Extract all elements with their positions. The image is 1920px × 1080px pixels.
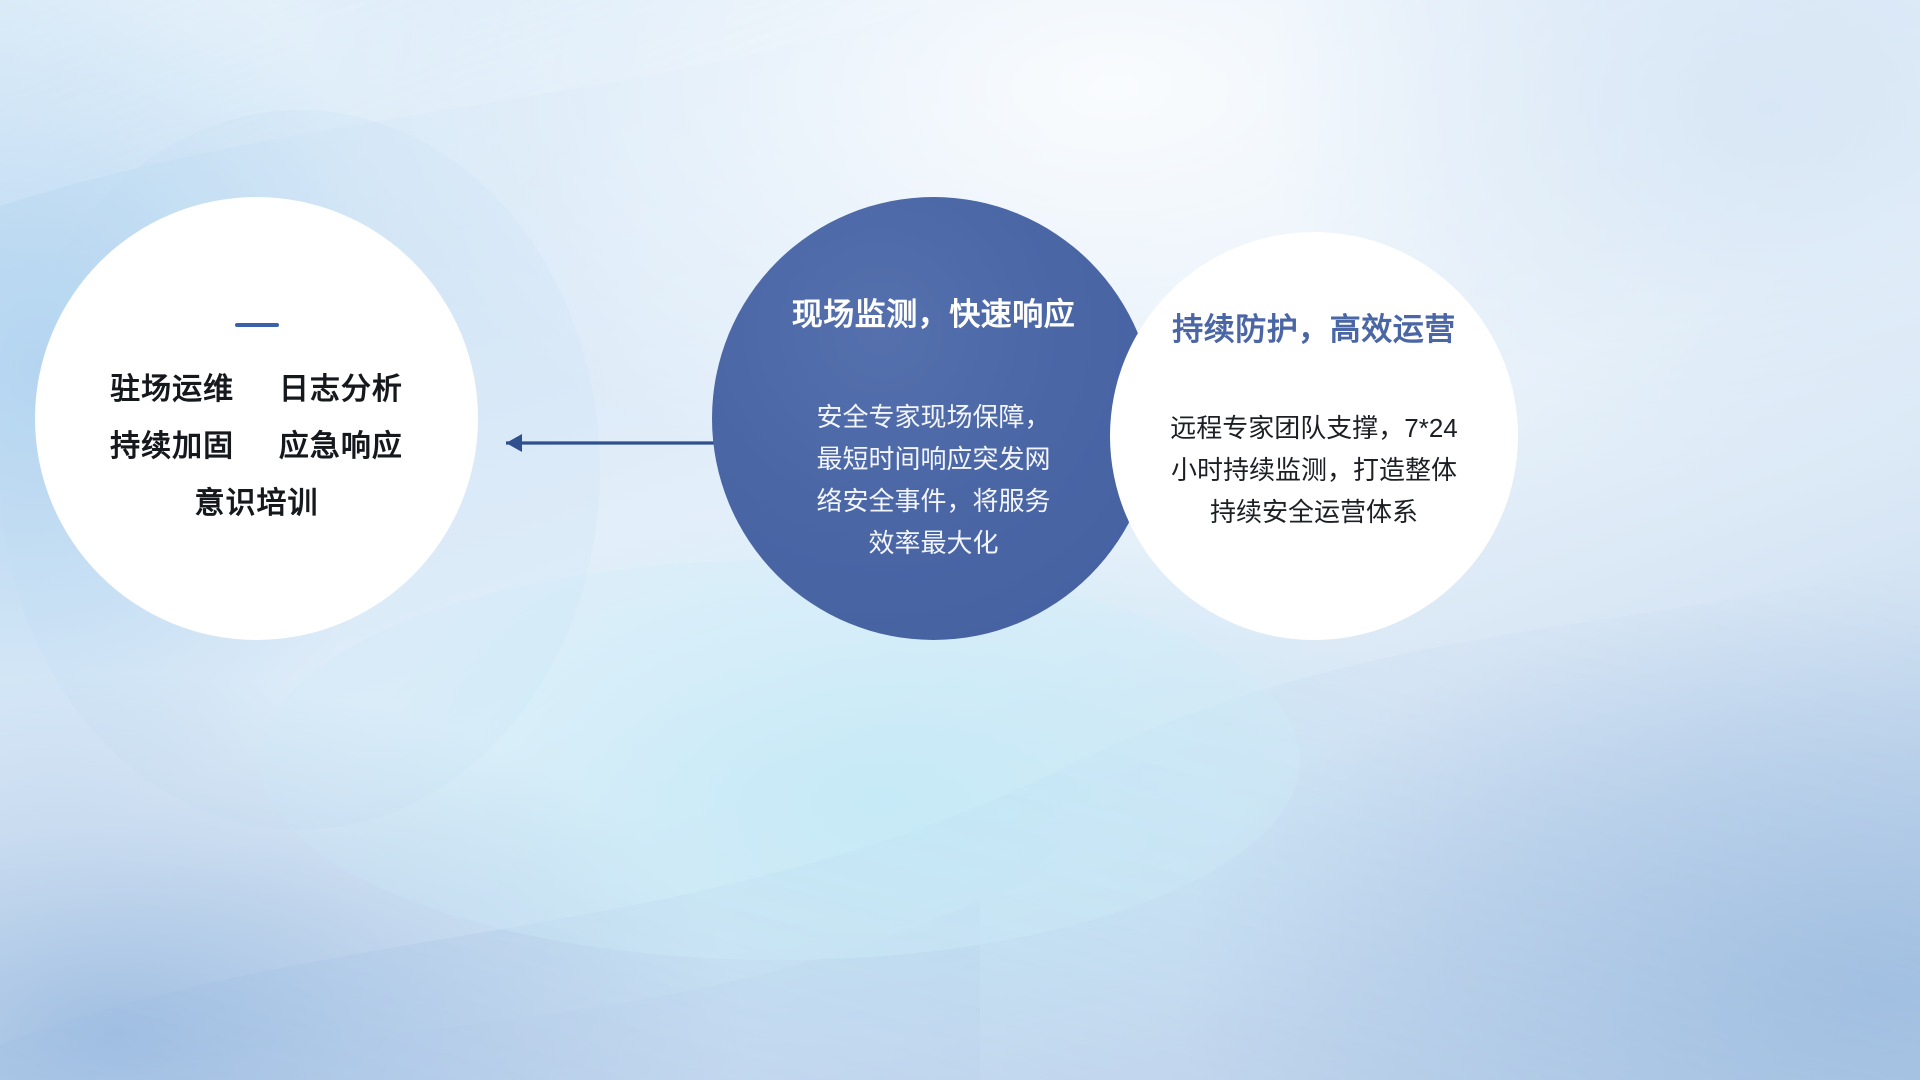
flow-arrow-icon	[488, 420, 718, 466]
body-line: 持续安全运营体系	[1138, 491, 1490, 533]
keyword-emergency-response[interactable]: 应急响应	[279, 430, 403, 463]
node-left-keywords[interactable]: 驻场运维 日志分析 持续加固 应急响应 意识培训	[35, 197, 478, 640]
body-line: 效率最大化	[784, 522, 1084, 564]
node-right-body: 远程专家团队支撑，7*24 小时持续监测，打造整体 持续安全运营体系	[1138, 407, 1490, 533]
keyword-row-3: 意识培训	[195, 489, 319, 519]
body-line: 小时持续监测，打造整体	[1138, 449, 1490, 491]
node-right-title: 持续防护，高效运营	[1172, 304, 1456, 349]
keyword-row-1: 驻场运维 日志分析	[110, 375, 403, 405]
node-right-continuous-protection[interactable]: 持续防护，高效运营 远程专家团队支撑，7*24 小时持续监测，打造整体 持续安全…	[1110, 232, 1518, 640]
keyword-log-analysis[interactable]: 日志分析	[279, 373, 403, 406]
keyword-awareness-training[interactable]: 意识培训	[195, 487, 319, 520]
body-line: 络安全事件，将服务	[784, 480, 1084, 522]
node-middle-title: 现场监测，快速响应	[792, 289, 1076, 334]
body-line: 安全专家现场保障，	[784, 396, 1084, 438]
node-middle-onsite-monitoring[interactable]: 现场监测，快速响应 安全专家现场保障， 最短时间响应突发网 络安全事件，将服务 …	[712, 197, 1155, 640]
title-divider	[235, 323, 279, 327]
node-middle-body: 安全专家现场保障， 最短时间响应突发网 络安全事件，将服务 效率最大化	[784, 396, 1084, 564]
body-line: 远程专家团队支撑，7*24	[1138, 407, 1490, 449]
keyword-row-2: 持续加固 应急响应	[110, 432, 403, 462]
keyword-continuous-hardening[interactable]: 持续加固	[110, 430, 234, 463]
keyword-onsite-ops[interactable]: 驻场运维	[110, 373, 234, 406]
body-line: 最短时间响应突发网	[784, 438, 1084, 480]
slide-canvas: 驻场运维 日志分析 持续加固 应急响应 意识培训 现场监测，快速响应 安全专家现…	[0, 0, 1920, 1080]
